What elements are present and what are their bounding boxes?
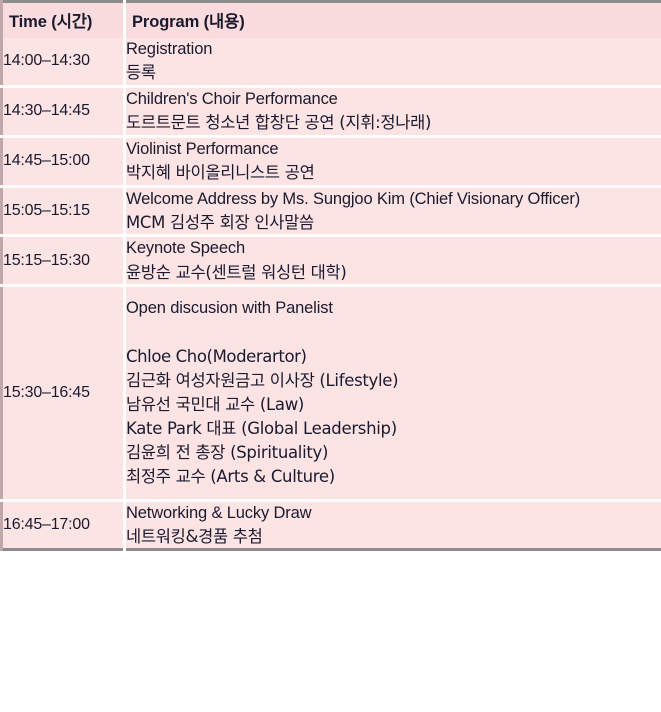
schedule-program: Violinist Performance박지혜 바이올리니스트 공연 [125, 136, 661, 186]
table-row: 16:45–17:00Networking & Lucky Draw네트워킹&경… [2, 500, 661, 550]
program-line: 김윤희 전 총장 (Spirituality) [126, 441, 661, 465]
program-line: Welcome Address by Ms. Sungjoo Kim (Chie… [126, 188, 661, 211]
schedule-time: 15:05–15:15 [2, 186, 125, 236]
schedule-time: 15:15–15:30 [2, 236, 125, 286]
program-line: Violinist Performance [126, 138, 661, 161]
table-row: 15:30–16:45Open discusion with PanelistC… [2, 286, 661, 500]
table-header: Time (시간) Program (내용) [2, 2, 661, 39]
table-row: 14:00–14:30Registration등록 [2, 38, 661, 86]
table-header-row: Time (시간) Program (내용) [2, 2, 661, 39]
schedule-program: Welcome Address by Ms. Sungjoo Kim (Chie… [125, 186, 661, 236]
schedule-time: 15:30–16:45 [2, 286, 125, 500]
program-line: Keynote Speech [126, 237, 661, 260]
program-line: 최정주 교수 (Arts & Culture) [126, 465, 661, 489]
schedule-program: Children's Choir Performance도르트문트 청소년 합창… [125, 86, 661, 136]
column-header-time: Time (시간) [2, 2, 125, 39]
schedule-program: Keynote Speech윤방순 교수(센트럴 워싱턴 대학) [125, 236, 661, 286]
event-schedule-table: Time (시간) Program (내용) 14:00–14:30Regist… [0, 0, 661, 551]
table-row: 15:05–15:15Welcome Address by Ms. Sungjo… [2, 186, 661, 236]
program-line: Networking & Lucky Draw [126, 502, 661, 525]
schedule-time: 14:30–14:45 [2, 86, 125, 136]
column-header-program: Program (내용) [125, 2, 661, 39]
schedule-program: Networking & Lucky Draw네트워킹&경품 추첨 [125, 500, 661, 550]
program-line: Registration [126, 38, 661, 61]
program-line: MCM 김성주 회장 인사말씀 [126, 211, 661, 234]
program-line: Open discusion with Panelist [126, 297, 661, 321]
program-line: Kate Park 대표 (Global Leadership) [126, 417, 661, 441]
program-line: 남유선 국민대 교수 (Law) [126, 393, 661, 417]
table-row: 15:15–15:30Keynote Speech윤방순 교수(센트럴 워싱턴 … [2, 236, 661, 286]
program-line: 박지혜 바이올리니스트 공연 [126, 161, 661, 184]
schedule-program: Registration등록 [125, 38, 661, 86]
schedule-program: Open discusion with PanelistChloe Cho(Mo… [125, 286, 661, 500]
program-line: Chloe Cho(Moderartor) [126, 345, 661, 369]
table-row: 14:30–14:45Children's Choir Performance도… [2, 86, 661, 136]
schedule-time: 14:45–15:00 [2, 136, 125, 186]
table-body: 14:00–14:30Registration등록14:30–14:45Chil… [2, 38, 661, 550]
program-line: 도르트문트 청소년 합창단 공연 (지휘:정나래) [126, 111, 661, 134]
schedule-time: 16:45–17:00 [2, 500, 125, 550]
program-line: 윤방순 교수(센트럴 워싱턴 대학) [126, 261, 661, 284]
program-line: 등록 [126, 61, 661, 84]
table-row: 14:45–15:00Violinist Performance박지혜 바이올리… [2, 136, 661, 186]
blank-line [126, 321, 661, 345]
program-line: 네트워킹&경품 추첨 [126, 525, 661, 548]
schedule-time: 14:00–14:30 [2, 38, 125, 86]
program-line: Children's Choir Performance [126, 88, 661, 111]
program-line: 김근화 여성자원금고 이사장 (Lifestyle) [126, 369, 661, 393]
